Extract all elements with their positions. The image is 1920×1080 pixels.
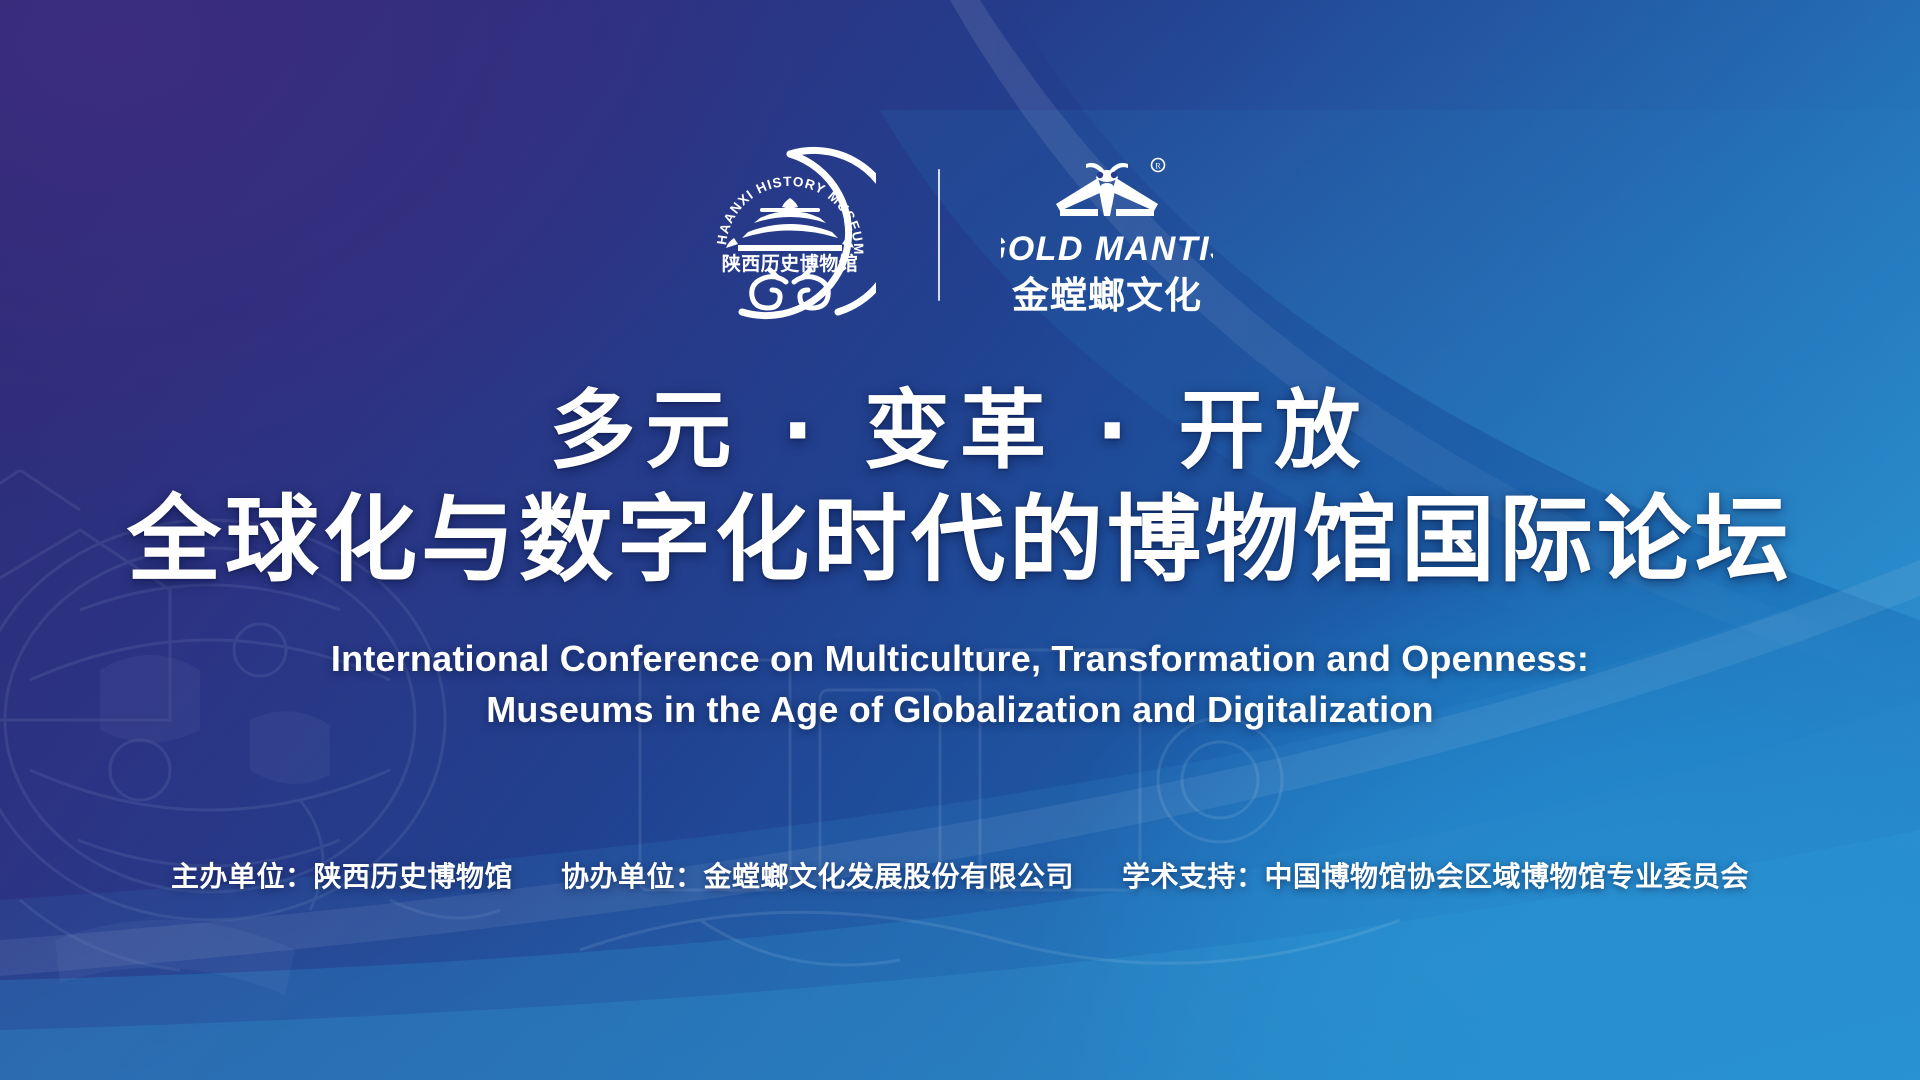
- main-title-line1: 多元 · 变革 · 开放: [0, 388, 1920, 476]
- organizer-host: 主办单位：陕西历史博物馆: [171, 855, 513, 895]
- gold-mantis-chinese-text: 金螳螂文化: [1012, 274, 1202, 317]
- gold-mantis-wordmark: GOLD MANTIS: [1001, 220, 1213, 274]
- mantis-icon: R: [1046, 156, 1168, 218]
- gold-mantis-chinese-name: 金螳螂文化: [1012, 277, 1202, 314]
- organizer-coorganizer-role: 协办单位：: [561, 860, 704, 893]
- gold-mantis-logo: R GOLD MANTIS 金螳螂文化: [998, 147, 1216, 323]
- logo-bar: SHAANXI HISTORY MUSEUM 陕西历史博物馆: [0, 140, 1920, 330]
- organizer-host-role: 主办单位：: [171, 860, 314, 893]
- registered-mark-icon: R: [1155, 162, 1161, 171]
- museum-chinese-name: 陕西历史博物馆: [722, 252, 859, 275]
- title-block: 多元 · 变革 · 开放 全球化与数字化时代的博物馆国际论坛 Internati…: [0, 388, 1920, 735]
- logo-divider: [938, 169, 940, 301]
- gold-mantis-wordmark-text: GOLD MANTIS: [1001, 230, 1213, 268]
- shaanxi-history-museum-logo: SHAANXI HISTORY MUSEUM 陕西历史博物馆: [704, 146, 876, 324]
- subtitle-line1: International Conference on Multiculture…: [0, 633, 1920, 684]
- organizer-academic-support-role: 学术支持：: [1122, 860, 1265, 893]
- organizer-coorganizer: 协办单位：金螳螂文化发展股份有限公司: [561, 855, 1074, 895]
- organizations-bar: 主办单位：陕西历史博物馆 协办单位：金螳螂文化发展股份有限公司 学术支持：中国博…: [0, 855, 1920, 895]
- subtitle-line2: Museums in the Age of Globalization and …: [0, 684, 1920, 735]
- organizer-academic-support-name: 中国博物馆协会区域博物馆专业委员会: [1265, 860, 1750, 893]
- organizer-academic-support: 学术支持：中国博物馆协会区域博物馆专业委员会: [1122, 855, 1749, 895]
- organizer-coorganizer-name: 金螳螂文化发展股份有限公司: [704, 860, 1075, 893]
- main-title-line2: 全球化与数字化时代的博物馆国际论坛: [0, 490, 1920, 592]
- organizer-host-name: 陕西历史博物馆: [313, 860, 513, 893]
- conference-banner: SHAANXI HISTORY MUSEUM 陕西历史博物馆: [0, 0, 1920, 1080]
